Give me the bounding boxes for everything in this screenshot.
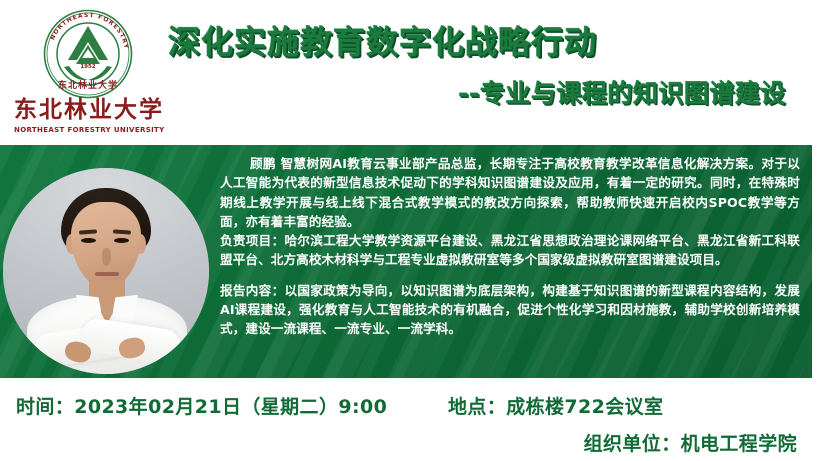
poster-subtitle: --专业与课程的知识图谱建设 — [168, 74, 808, 110]
paragraph-spacer — [220, 270, 800, 281]
speaker-info-panel: 顾鹏 智慧树网AI教育云事业部产品总监，长期专注于高校教育教学改革信息化解决方案… — [0, 145, 812, 378]
event-organizer: 组织单位：机电工程学院 — [584, 429, 797, 456]
university-name-cn: 东北林业大学 — [14, 98, 164, 122]
speaker-photo-image — [3, 168, 209, 374]
university-seal-icon: NORTHEAST FORESTRY UNIVERSITY 1952 东北林业大… — [42, 8, 134, 100]
footer-details-row: 时间：2023年02月21日（星期二）9:00 地点：成栋楼722会议室 — [0, 392, 819, 420]
svg-text:东北林业大学: 东北林业大学 — [58, 79, 118, 91]
bio-paragraph-projects: 负责项目：哈尔滨工程大学教学资源平台建设、黑龙江省思想政治理论课网络平台、黑龙江… — [220, 231, 800, 270]
speaker-bio-text: 顾鹏 智慧树网AI教育云事业部产品总监，长期专注于高校教育教学改革信息化解决方案… — [220, 154, 800, 338]
svg-text:1952: 1952 — [80, 64, 95, 70]
poster-footer: 时间：2023年02月21日（星期二）9:00 地点：成栋楼722会议室 组织单… — [0, 378, 819, 461]
speaker-portrait — [3, 168, 209, 374]
university-logo: NORTHEAST FORESTRY UNIVERSITY 1952 东北林业大… — [14, 6, 164, 140]
event-location: 地点：成栋楼722会议室 — [448, 392, 663, 419]
seminar-poster: NORTHEAST FORESTRY UNIVERSITY 1952 东北林业大… — [0, 0, 819, 461]
university-name-en: NORTHEAST FORESTRY UNIVERSITY — [14, 126, 164, 134]
bio-paragraph-report: 报告内容：以国家政策为导向，以知识图谱为底层架构，构建基于知识图谱的新型课程内容… — [220, 281, 800, 339]
event-time: 时间：2023年02月21日（星期二）9:00 — [16, 392, 387, 419]
poster-title: 深化实施教育数字化战略行动 — [168, 22, 808, 62]
poster-header: NORTHEAST FORESTRY UNIVERSITY 1952 东北林业大… — [0, 0, 819, 145]
bio-paragraph-intro: 顾鹏 智慧树网AI教育云事业部产品总监，长期专注于高校教育教学改革信息化解决方案… — [220, 154, 800, 231]
title-block: 深化实施教育数字化战略行动 --专业与课程的知识图谱建设 — [168, 22, 808, 110]
